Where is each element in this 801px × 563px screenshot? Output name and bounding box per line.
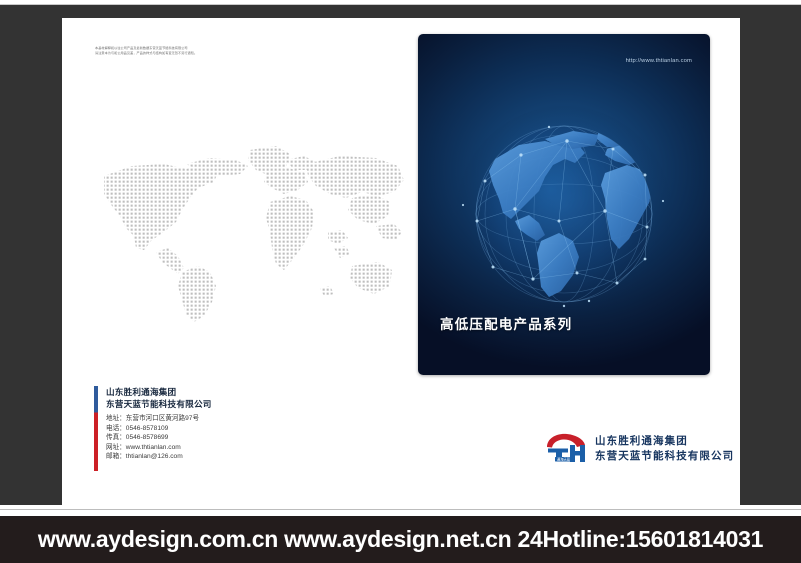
contact-phone: 电话：0546-8578109: [106, 424, 199, 434]
network-globe-icon: [449, 101, 679, 331]
contact-email[interactable]: 邮箱：thtianlan@126.com: [106, 452, 199, 462]
dotted-world-map-icon: [90, 136, 410, 326]
contact-detail-list: 地址：东营市河口区黄河路97号 电话：0546-8578109 传真：0546-…: [106, 414, 199, 462]
th-tonghai-logo-icon: 通海天蓝: [544, 432, 587, 465]
screenshot-stage: 本基材解释和以往公司产品及最新数据东营天蓝节能科技有限公司 请注意本为与和公用品…: [0, 0, 801, 563]
contact-accent-bar: [94, 386, 98, 471]
logo-company-name-2: 东营天蓝节能科技有限公司: [595, 449, 734, 464]
catalog-cover-panel: http://www.thtianlan.com: [418, 34, 710, 375]
contact-address: 地址：东营市河口区黄河路97号: [106, 414, 199, 424]
contact-fax: 传真：0546-8578699: [106, 433, 199, 443]
watermark-banner-text: www.aydesign.com.cn www.aydesign.net.cn …: [38, 526, 763, 553]
contact-company-name-1: 山东胜利通海集团: [106, 386, 212, 398]
contact-company-names: 山东胜利通海集团 东营天蓝节能科技有限公司: [106, 386, 212, 410]
svg-text:通海天蓝: 通海天蓝: [557, 457, 571, 462]
logo-company-names: 山东胜利通海集团 东营天蓝节能科技有限公司: [595, 434, 734, 463]
logo-company-name-1: 山东胜利通海集团: [595, 434, 734, 449]
cover-website-url[interactable]: http://www.thtianlan.com: [626, 58, 692, 64]
contact-website[interactable]: 网址：www.thtianlan.com: [106, 443, 199, 453]
disclaimer-text: 本基材解释和以往公司产品及最新数据东营天蓝节能科技有限公司 请注意本为与和公用品…: [95, 46, 295, 56]
brochure-page: 本基材解释和以往公司产品及最新数据东营天蓝节能科技有限公司 请注意本为与和公用品…: [62, 18, 740, 505]
contact-company-name-2: 东营天蓝节能科技有限公司: [106, 398, 212, 410]
watermark-banner: www.aydesign.com.cn www.aydesign.net.cn …: [0, 516, 801, 563]
company-logo-lockup: 通海天蓝 山东胜利通海集团 东营天蓝节能科技有限公司: [544, 432, 734, 465]
cover-title: 高低压配电产品系列: [440, 313, 572, 333]
stage-top-gray-rule: [0, 4, 801, 5]
